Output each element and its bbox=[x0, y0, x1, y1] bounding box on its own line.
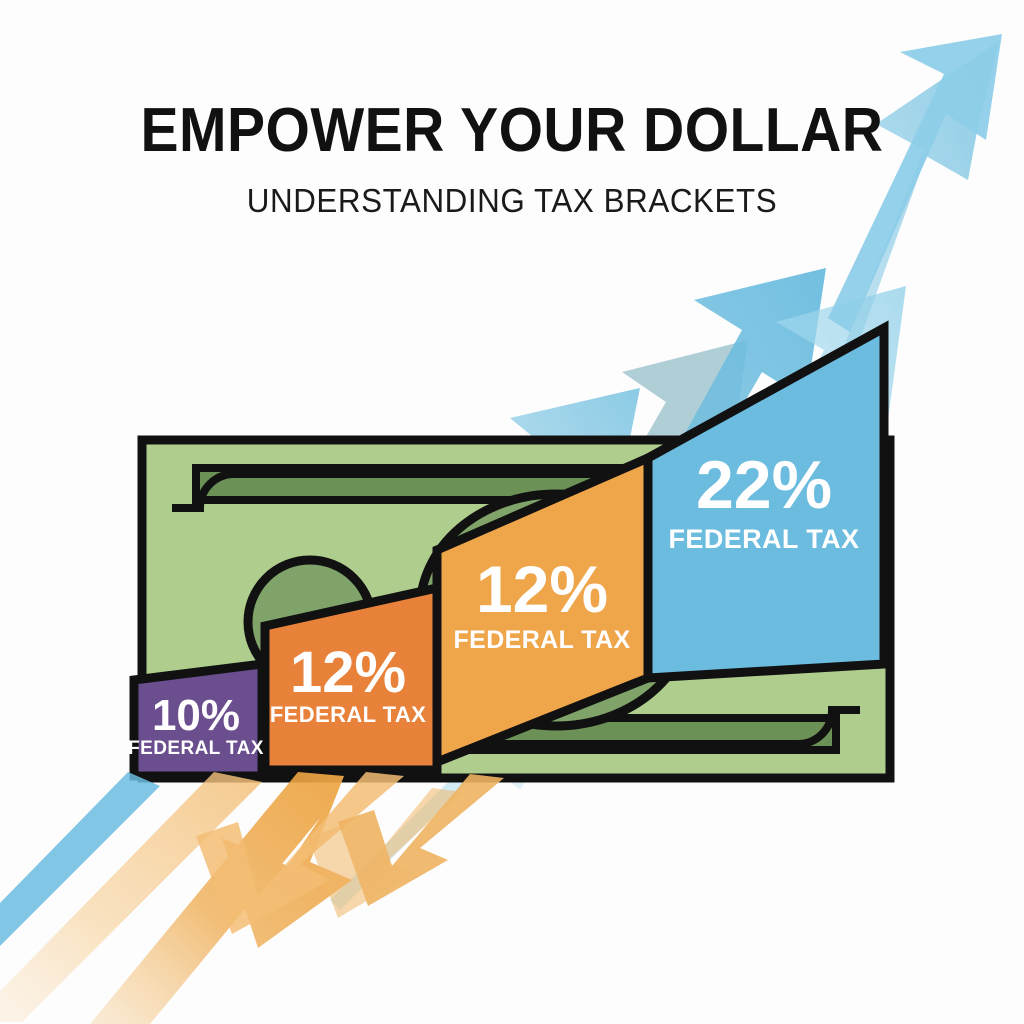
bracket-3-percent: 12% bbox=[476, 552, 608, 626]
bracket-2-label: FEDERAL TAX bbox=[270, 702, 426, 727]
rising-arrow-7 bbox=[828, 34, 1002, 332]
bracket-4-label: FEDERAL TAX bbox=[669, 524, 860, 554]
falling-arrows-group bbox=[0, 772, 504, 1024]
page-subtitle: UNDERSTANDING TAX BRACKETS bbox=[26, 184, 999, 217]
bracket-1-percent: 10% bbox=[152, 691, 240, 740]
bracket-3-label: FEDERAL TAX bbox=[453, 626, 630, 654]
bracket-2-percent: 12% bbox=[290, 640, 406, 705]
infographic-poster: 10% FEDERAL TAX 12% FEDERAL TAX 12% FEDE… bbox=[0, 0, 1024, 1024]
bracket-1-label: FEDERAL TAX bbox=[128, 738, 264, 759]
page-title: EMPOWER YOUR DOLLAR bbox=[41, 100, 983, 162]
bracket-4-percent: 22% bbox=[696, 447, 832, 523]
